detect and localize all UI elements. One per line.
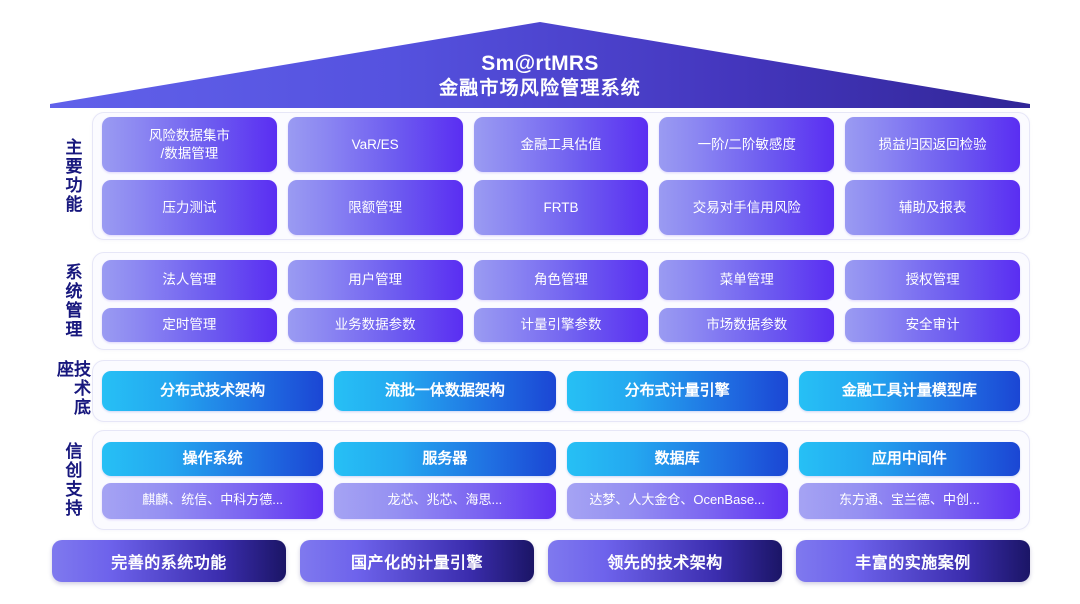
section-panel-tech-foundation: 分布式技术架构 流批一体数据架构 分布式计量引擎 金融工具计量模型库 (92, 360, 1030, 422)
highlight-bar[interactable]: 丰富的实施案例 (796, 540, 1030, 582)
section-label-system-management: 系统管理 (52, 252, 92, 350)
function-card[interactable]: 一阶/二阶敏感度 (659, 117, 834, 172)
function-card[interactable]: 风险数据集市/数据管理 (102, 117, 277, 172)
xinchuang-vendor-card[interactable]: 东方通、宝兰德、中创... (799, 483, 1020, 519)
function-card[interactable]: 法人管理 (102, 260, 277, 300)
function-card[interactable]: 辅助及报表 (845, 180, 1020, 235)
highlight-bar[interactable]: 领先的技术架构 (548, 540, 782, 582)
highlight-bar[interactable]: 完善的系统功能 (52, 540, 286, 582)
xinchuang-category-card[interactable]: 数据库 (567, 442, 788, 476)
card-row: 风险数据集市/数据管理 VaR/ES 金融工具估值 一阶/二阶敏感度 损益归因返… (102, 117, 1020, 172)
highlights-bar-row: 完善的系统功能 国产化的计量引擎 领先的技术架构 丰富的实施案例 (52, 540, 1030, 582)
function-card[interactable]: 金融工具估值 (474, 117, 649, 172)
function-card[interactable]: 损益归因返回检验 (845, 117, 1020, 172)
section-panel-xinchuang-support: 操作系统 服务器 数据库 应用中间件 麒麟、统信、中科方德... 龙芯、兆芯、海… (92, 430, 1030, 530)
function-card[interactable]: 安全审计 (845, 308, 1020, 342)
section-tech-foundation: 技术底座 分布式技术架构 流批一体数据架构 分布式计量引擎 金融工具计量模型库 (52, 360, 1030, 422)
xinchuang-vendor-card[interactable]: 达梦、人大金仓、OcenBase... (567, 483, 788, 519)
xinchuang-category-card[interactable]: 服务器 (334, 442, 555, 476)
function-card[interactable]: 限额管理 (288, 180, 463, 235)
highlight-bar[interactable]: 国产化的计量引擎 (300, 540, 534, 582)
section-xinchuang-support: 信创支持 操作系统 服务器 数据库 应用中间件 麒麟、统信、中科方德... 龙芯… (52, 430, 1030, 530)
xinchuang-vendor-card[interactable]: 麒麟、统信、中科方德... (102, 483, 323, 519)
tech-card[interactable]: 分布式技术架构 (102, 371, 323, 411)
card-row: 分布式技术架构 流批一体数据架构 分布式计量引擎 金融工具计量模型库 (102, 371, 1020, 411)
xinchuang-category-card[interactable]: 操作系统 (102, 442, 323, 476)
function-card[interactable]: 业务数据参数 (288, 308, 463, 342)
section-panel-main-functions: 风险数据集市/数据管理 VaR/ES 金融工具估值 一阶/二阶敏感度 损益归因返… (92, 112, 1030, 240)
tech-card[interactable]: 流批一体数据架构 (334, 371, 555, 411)
section-label-xinchuang-support: 信创支持 (52, 430, 92, 530)
function-card[interactable]: VaR/ES (288, 117, 463, 172)
card-row: 定时管理 业务数据参数 计量引擎参数 市场数据参数 安全审计 (102, 308, 1020, 342)
card-row: 麒麟、统信、中科方德... 龙芯、兆芯、海思... 达梦、人大金仓、OcenBa… (102, 483, 1020, 519)
tech-card[interactable]: 分布式计量引擎 (567, 371, 788, 411)
function-card[interactable]: 交易对手信用风险 (659, 180, 834, 235)
xinchuang-vendor-card[interactable]: 龙芯、兆芯、海思... (334, 483, 555, 519)
function-card[interactable]: 菜单管理 (659, 260, 834, 300)
function-card[interactable]: 定时管理 (102, 308, 277, 342)
function-card[interactable]: 计量引擎参数 (474, 308, 649, 342)
section-label-tech-foundation: 技术底座 (52, 360, 92, 422)
section-main-functions: 主要功能 风险数据集市/数据管理 VaR/ES 金融工具估值 一阶/二阶敏感度 … (52, 112, 1030, 240)
card-row: 操作系统 服务器 数据库 应用中间件 (102, 442, 1020, 476)
function-card[interactable]: 角色管理 (474, 260, 649, 300)
roof-triangle-icon (50, 22, 1030, 108)
section-panel-system-management: 法人管理 用户管理 角色管理 菜单管理 授权管理 定时管理 业务数据参数 计量引… (92, 252, 1030, 350)
function-card[interactable]: 市场数据参数 (659, 308, 834, 342)
section-label-main-functions: 主要功能 (52, 112, 92, 240)
tech-card[interactable]: 金融工具计量模型库 (799, 371, 1020, 411)
function-card[interactable]: 用户管理 (288, 260, 463, 300)
function-card[interactable]: 压力测试 (102, 180, 277, 235)
architecture-diagram: Sm@rtMRS 金融市场风险管理系统 主要功能 风险数据集市/数据管理 VaR… (0, 0, 1080, 604)
function-card[interactable]: 授权管理 (845, 260, 1020, 300)
function-card[interactable]: FRTB (474, 180, 649, 235)
section-system-management: 系统管理 法人管理 用户管理 角色管理 菜单管理 授权管理 定时管理 业务数据参… (52, 252, 1030, 350)
card-row: 法人管理 用户管理 角色管理 菜单管理 授权管理 (102, 260, 1020, 300)
roof-banner: Sm@rtMRS 金融市场风险管理系统 (50, 22, 1030, 108)
xinchuang-category-card[interactable]: 应用中间件 (799, 442, 1020, 476)
card-row: 压力测试 限额管理 FRTB 交易对手信用风险 辅助及报表 (102, 180, 1020, 235)
